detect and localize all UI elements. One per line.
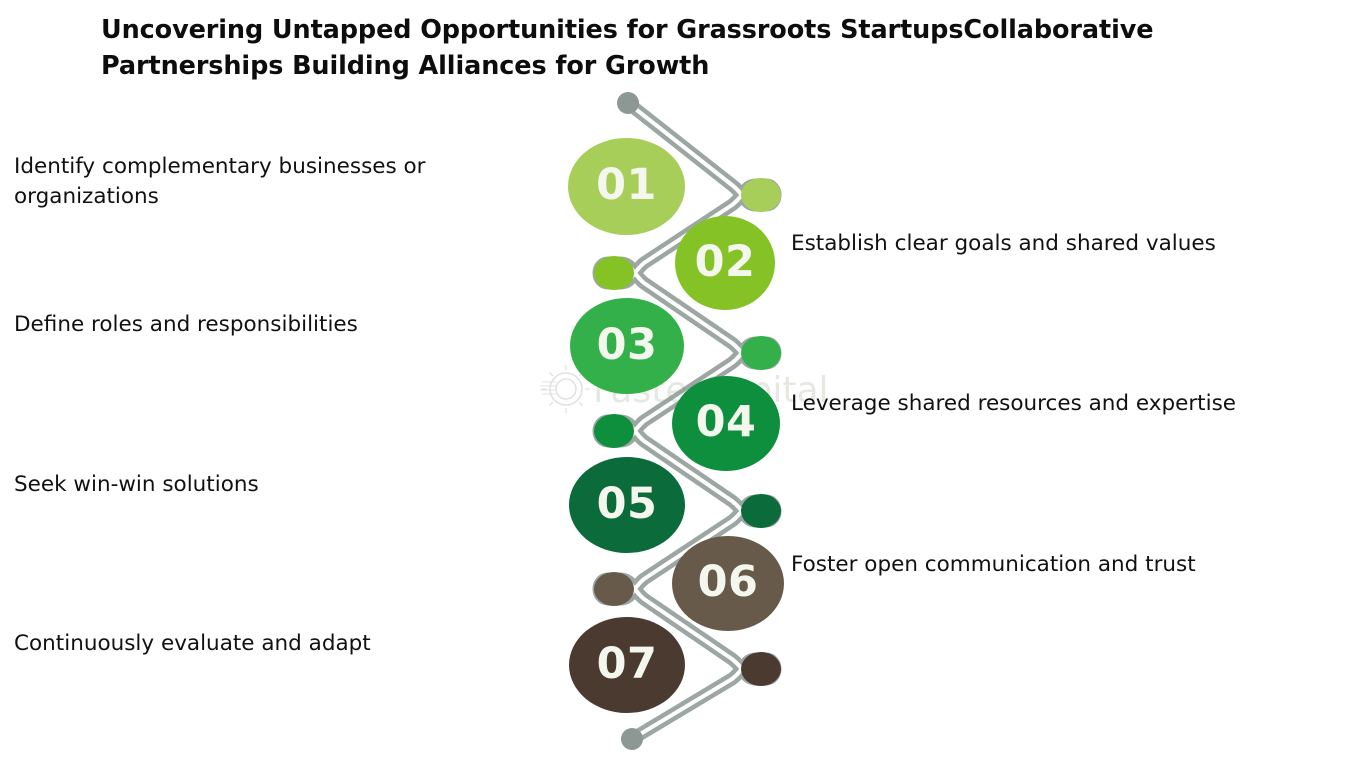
step-number-03: 03 xyxy=(597,324,658,367)
step-bubble-07[interactable]: 07 xyxy=(569,617,685,713)
node-dot-03 xyxy=(741,336,781,370)
node-dot-04 xyxy=(594,414,634,448)
step-number-05: 05 xyxy=(597,483,658,526)
node-dot-07 xyxy=(741,652,781,686)
step-number-04: 04 xyxy=(696,401,757,444)
step-label-04: Leverage shared resources and expertise xyxy=(791,389,1311,419)
path-end-dot xyxy=(621,728,643,750)
step-label-03: Define roles and responsibilities xyxy=(14,310,494,340)
path-start-dot xyxy=(617,92,639,114)
step-number-02: 02 xyxy=(695,241,756,284)
step-label-07: Continuously evaluate and adapt xyxy=(14,629,494,659)
step-label-06: Foster open communication and trust xyxy=(791,550,1311,580)
infographic-diagram: FasterCapital 01 02 03 04 05 06 07 Ident… xyxy=(0,0,1350,759)
node-dot-05 xyxy=(741,494,781,528)
step-bubble-05[interactable]: 05 xyxy=(569,457,685,553)
step-number-07: 07 xyxy=(597,643,658,686)
step-number-06: 06 xyxy=(698,561,759,604)
step-bubble-04[interactable]: 04 xyxy=(672,376,780,471)
step-bubble-06[interactable]: 06 xyxy=(672,536,784,631)
step-label-02: Establish clear goals and shared values xyxy=(791,229,1311,259)
step-bubble-02[interactable]: 02 xyxy=(675,216,775,310)
node-dot-02 xyxy=(594,256,634,290)
step-bubble-03[interactable]: 03 xyxy=(570,298,684,394)
step-label-05: Seek win-win solutions xyxy=(14,470,494,500)
step-bubble-01[interactable]: 01 xyxy=(568,138,685,235)
step-number-01: 01 xyxy=(596,164,657,207)
node-dot-06 xyxy=(594,572,634,606)
step-label-01: Identify complementary businesses or org… xyxy=(14,152,494,212)
node-dot-01 xyxy=(741,178,781,212)
